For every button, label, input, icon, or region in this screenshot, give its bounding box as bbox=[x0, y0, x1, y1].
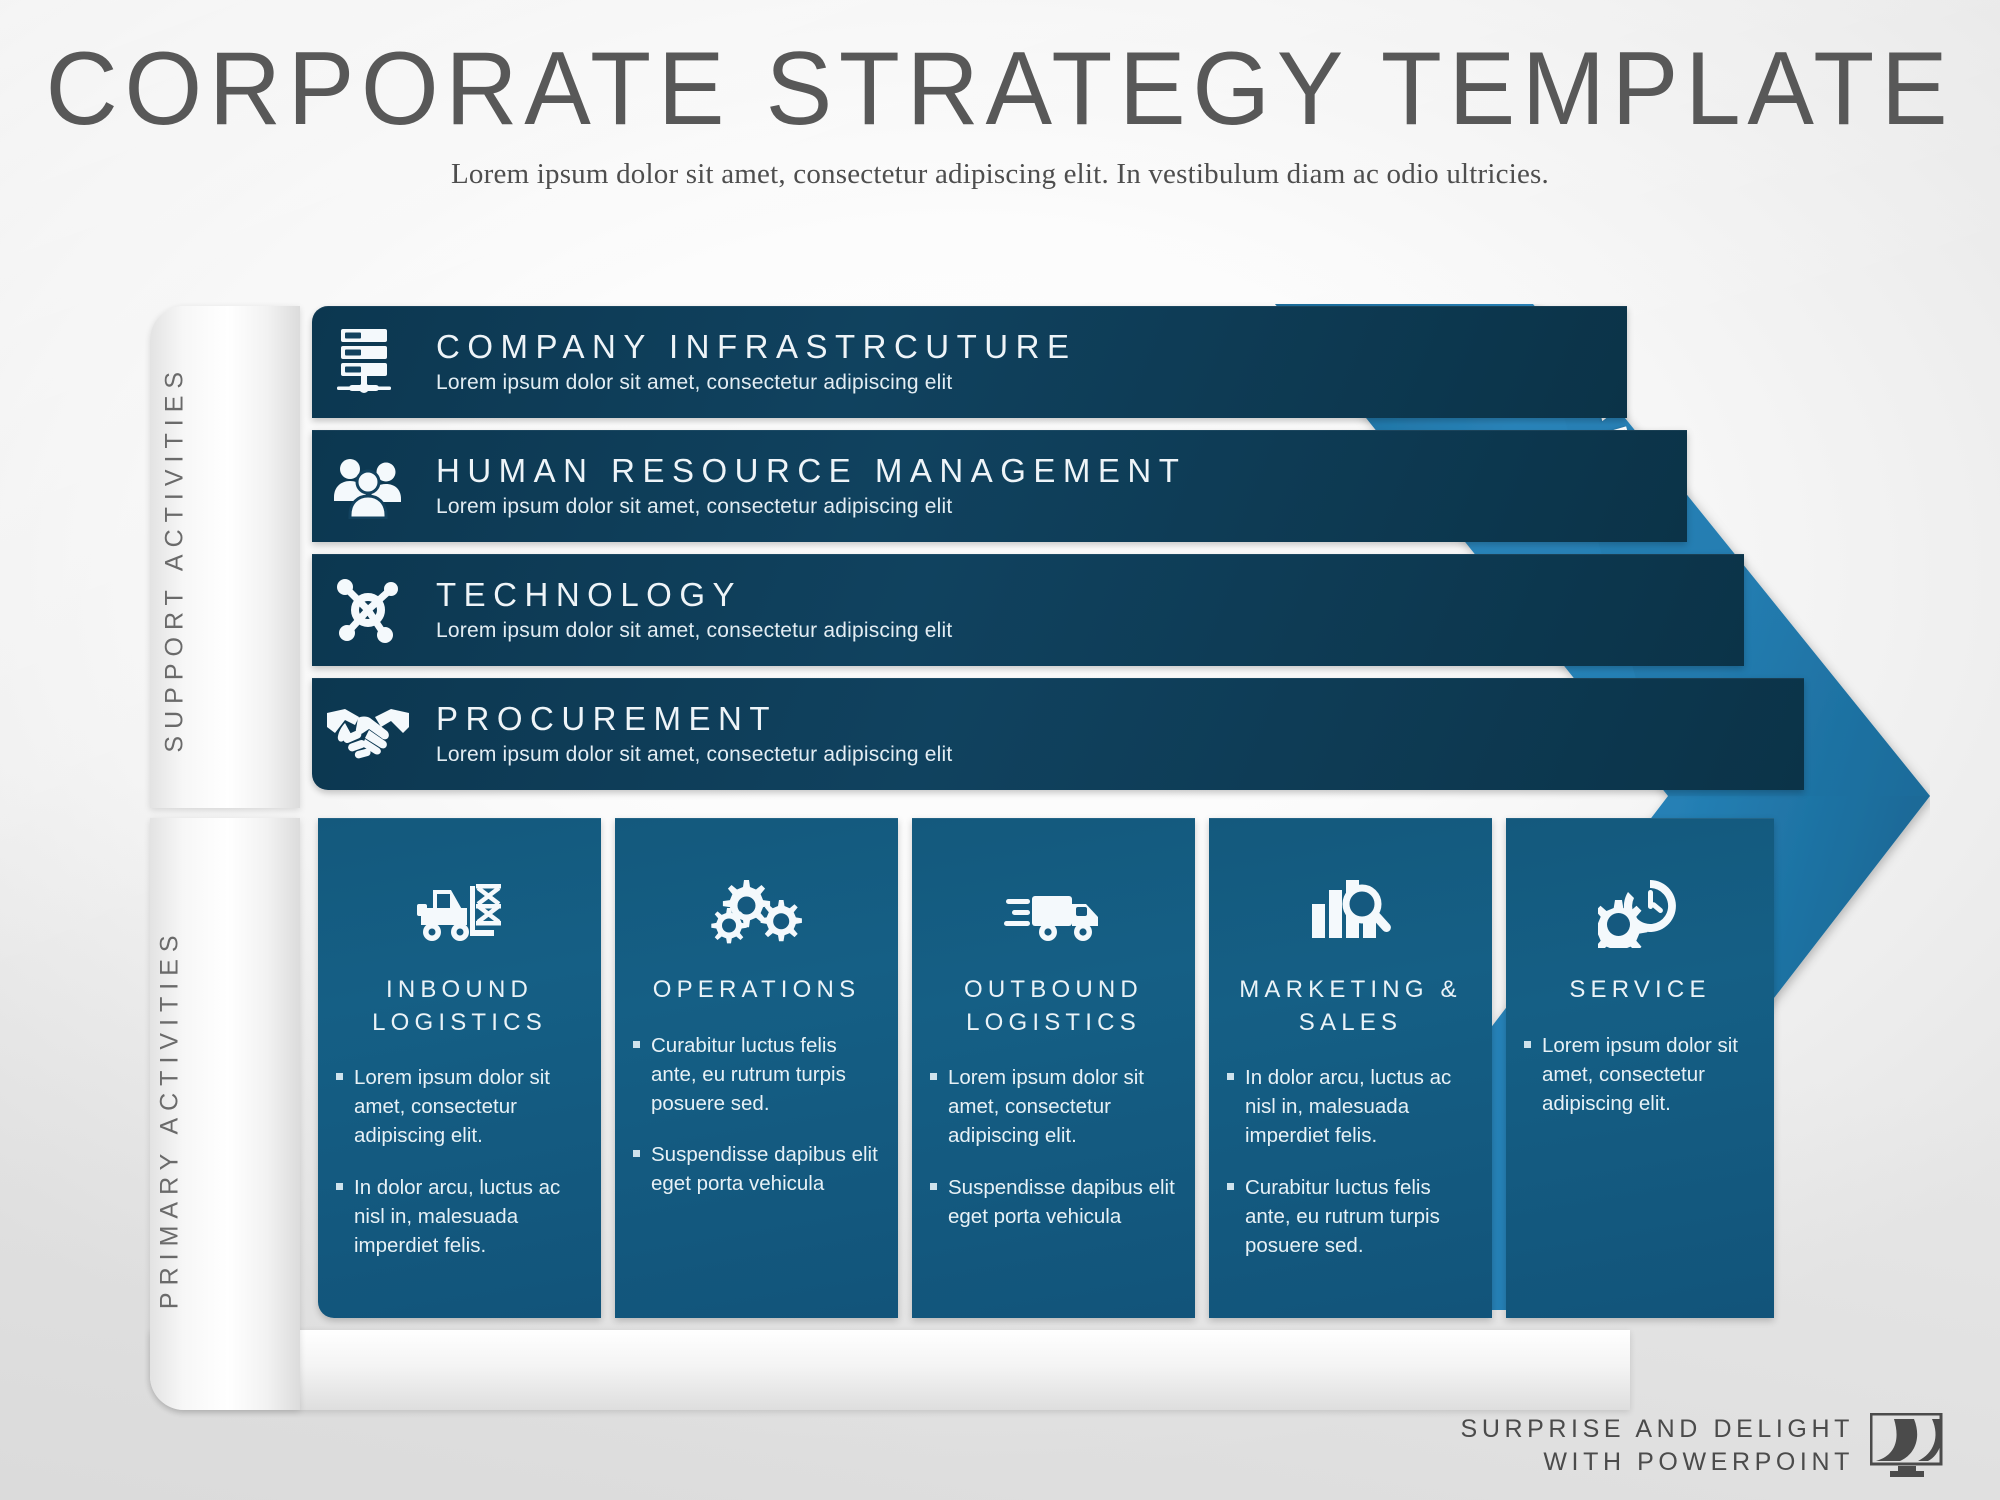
page-title: CORPORATE STRATEGY TEMPLATE bbox=[40, 34, 1960, 144]
footer-line-2: WITH POWERPOINT bbox=[1461, 1446, 1854, 1480]
primary-col-title: INBOUND LOGISTICS bbox=[318, 974, 601, 1039]
gear-clock-icon bbox=[1506, 818, 1774, 948]
support-row-procurement[interactable]: PROCUREMENT Lorem ipsum dolor sit amet, … bbox=[312, 678, 1804, 790]
support-row-text: COMPANY INFRASTRCUTURE Lorem ipsum dolor… bbox=[424, 329, 1076, 396]
footer-text: SURPRISE AND DELIGHT WITH POWERPOINT bbox=[1461, 1413, 1854, 1481]
support-activities-label: SUPPORT ACTIVITIES bbox=[156, 344, 194, 774]
primary-col-title: MARKETING & SALES bbox=[1209, 974, 1492, 1039]
support-row-subtitle: Lorem ipsum dolor sit amet, consectetur … bbox=[436, 743, 952, 767]
support-row-title: PROCUREMENT bbox=[436, 701, 952, 738]
primary-col-bullets: Lorem ipsum dolor sit amet, consectetur … bbox=[318, 1063, 601, 1260]
primary-col-outbound-logistics[interactable]: OUTBOUND LOGISTICS Lorem ipsum dolor sit… bbox=[912, 818, 1195, 1318]
footer-line-1: SURPRISE AND DELIGHT bbox=[1461, 1413, 1854, 1447]
support-activities-list: COMPANY INFRASTRCUTURE Lorem ipsum dolor… bbox=[312, 306, 1804, 802]
server-rack-icon bbox=[312, 306, 424, 418]
primary-col-bullets: In dolor arcu, luctus ac nisl in, malesu… bbox=[1209, 1063, 1492, 1260]
primary-col-title: OUTBOUND LOGISTICS bbox=[912, 974, 1195, 1039]
gears-icon bbox=[615, 818, 898, 948]
primary-col-operations[interactable]: OPERATIONS Curabitur luctus felis ante, … bbox=[615, 818, 898, 1318]
road-monitor-logo bbox=[1870, 1413, 1948, 1479]
list-item: Lorem ipsum dolor sit amet, consectetur … bbox=[930, 1063, 1179, 1150]
list-item: Lorem ipsum dolor sit amet, consectetur … bbox=[1524, 1031, 1758, 1118]
forklift-icon bbox=[318, 818, 601, 948]
primary-col-title: OPERATIONS bbox=[615, 974, 898, 1007]
support-row-title: HUMAN RESOURCE MANAGEMENT bbox=[436, 453, 1186, 490]
primary-col-bullets: Lorem ipsum dolor sit amet, consectetur … bbox=[912, 1063, 1195, 1231]
network-nodes-icon bbox=[312, 554, 424, 666]
page-subtitle: Lorem ipsum dolor sit amet, consectetur … bbox=[0, 158, 2000, 191]
handshake-icon bbox=[312, 678, 424, 790]
list-item: Suspendisse dapibus elit eget porta vehi… bbox=[930, 1173, 1179, 1231]
primary-activities-baseline bbox=[150, 1330, 1630, 1410]
support-row-human-resource-management[interactable]: HUMAN RESOURCE MANAGEMENT Lorem ipsum do… bbox=[312, 430, 1687, 542]
support-row-company-infrastructure[interactable]: COMPANY INFRASTRCUTURE Lorem ipsum dolor… bbox=[312, 306, 1627, 418]
header: CORPORATE STRATEGY TEMPLATE Lorem ipsum … bbox=[0, 34, 2000, 191]
support-row-text: HUMAN RESOURCE MANAGEMENT Lorem ipsum do… bbox=[424, 453, 1186, 520]
support-row-technology[interactable]: TECHNOLOGY Lorem ipsum dolor sit amet, c… bbox=[312, 554, 1744, 666]
bar-chart-magnifier-icon bbox=[1209, 818, 1492, 948]
primary-col-inbound-logistics[interactable]: INBOUND LOGISTICS Lorem ipsum dolor sit … bbox=[318, 818, 601, 1318]
list-item: Suspendisse dapibus elit eget porta vehi… bbox=[633, 1140, 882, 1198]
list-item: Curabitur luctus felis ante, eu rutrum t… bbox=[1227, 1173, 1476, 1260]
footer: SURPRISE AND DELIGHT WITH POWERPOINT bbox=[1461, 1413, 1948, 1481]
primary-col-bullets: Curabitur luctus felis ante, eu rutrum t… bbox=[615, 1031, 898, 1199]
list-item: Curabitur luctus felis ante, eu rutrum t… bbox=[633, 1031, 882, 1118]
people-group-icon bbox=[312, 430, 424, 542]
primary-col-bullets: Lorem ipsum dolor sit amet, consectetur … bbox=[1506, 1031, 1774, 1118]
support-row-title: TECHNOLOGY bbox=[436, 577, 952, 614]
primary-col-title: SERVICE bbox=[1506, 974, 1774, 1007]
primary-col-marketing-sales[interactable]: MARKETING & SALES In dolor arcu, luctus … bbox=[1209, 818, 1492, 1318]
primary-col-service[interactable]: SERVICE Lorem ipsum dolor sit amet, cons… bbox=[1506, 818, 1774, 1318]
support-row-text: PROCUREMENT Lorem ipsum dolor sit amet, … bbox=[424, 701, 952, 768]
support-row-subtitle: Lorem ipsum dolor sit amet, consectetur … bbox=[436, 619, 952, 643]
support-row-title: COMPANY INFRASTRCUTURE bbox=[436, 329, 1076, 366]
support-row-text: TECHNOLOGY Lorem ipsum dolor sit amet, c… bbox=[424, 577, 952, 644]
support-row-subtitle: Lorem ipsum dolor sit amet, consectetur … bbox=[436, 495, 1186, 519]
list-item: In dolor arcu, luctus ac nisl in, malesu… bbox=[336, 1173, 585, 1260]
list-item: Lorem ipsum dolor sit amet, consectetur … bbox=[336, 1063, 585, 1150]
support-row-subtitle: Lorem ipsum dolor sit amet, consectetur … bbox=[436, 371, 1076, 395]
list-item: In dolor arcu, luctus ac nisl in, malesu… bbox=[1227, 1063, 1476, 1150]
delivery-truck-icon bbox=[912, 818, 1195, 948]
primary-activities-list: INBOUND LOGISTICS Lorem ipsum dolor sit … bbox=[318, 818, 1774, 1318]
primary-activities-label: PRIMARY ACTIVITIES bbox=[151, 904, 189, 1334]
